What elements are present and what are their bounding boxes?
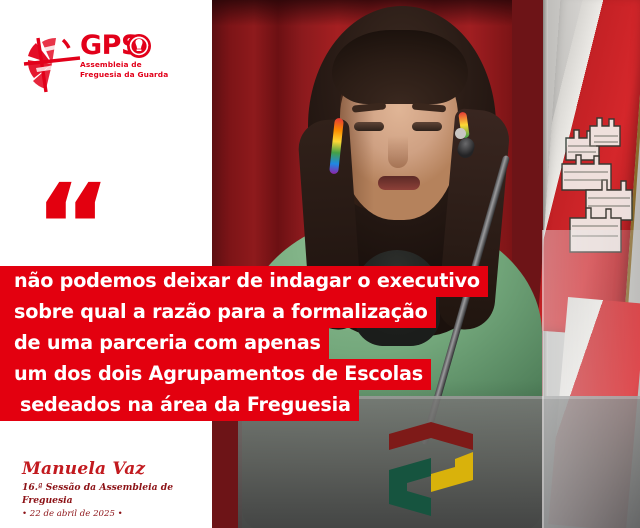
quote-text: não podemos deixar de indagar o executiv…	[0, 266, 640, 421]
mouth	[378, 176, 420, 190]
quote-line: não podemos deixar de indagar o executiv…	[0, 266, 640, 297]
hair-fringe	[332, 30, 468, 104]
quote-line-text: sedeados na área da Freguesia	[0, 390, 359, 421]
attribution-block: Manuela Vaz 16.ª Sessão da Assembleia de…	[22, 459, 212, 520]
quote-line-text: não podemos deixar de indagar o executiv…	[0, 266, 488, 297]
speaker-photo	[212, 0, 640, 528]
logo-subtitle-line2: Freguesia da Guarda	[80, 70, 192, 79]
logo-subtitle-line1: Assembleia de	[80, 60, 192, 69]
quote-card: GPS Assembleia de Freguesia da Guarda “ …	[0, 0, 640, 528]
quote-line: um dos dois Agrupamentos de Escolas	[0, 359, 640, 390]
quote-line-text: sobre qual a razão para a formalização	[0, 297, 436, 328]
gps-logo[interactable]: GPS Assembleia de Freguesia da Guarda	[22, 30, 192, 100]
session-label: 16.ª Sessão da Assembleia de Freguesia	[22, 481, 212, 507]
quote-line: de uma parceria com apenas	[0, 328, 640, 359]
speaker-name: Manuela Vaz	[22, 459, 212, 479]
microphone-icon	[455, 128, 466, 139]
quote-line-text: um dos dois Agrupamentos de Escolas	[0, 359, 431, 390]
nose	[388, 136, 408, 168]
quote-line-text: de uma parceria com apenas	[0, 328, 329, 359]
date-label: • 22 de abril de 2025 •	[22, 508, 212, 520]
quote-line: sedeados na área da Freguesia	[0, 390, 640, 421]
eye-left	[354, 122, 384, 131]
eye-right	[412, 122, 442, 131]
hexagon-logo-icon	[381, 418, 481, 522]
gps-spiral-icon	[22, 34, 84, 96]
circular-seal-icon	[126, 33, 152, 59]
quote-line: sobre qual a razão para a formalização	[0, 297, 640, 328]
